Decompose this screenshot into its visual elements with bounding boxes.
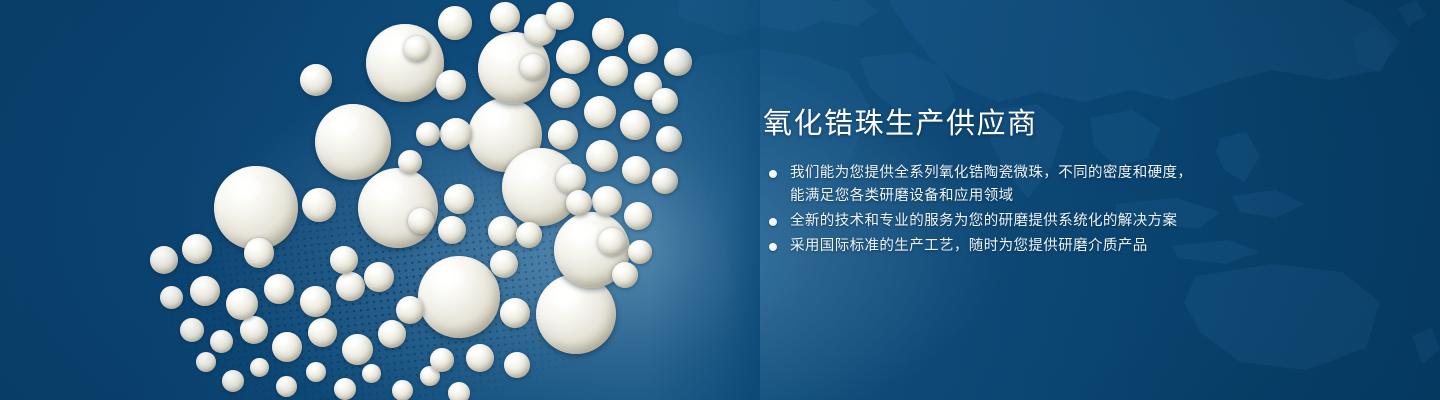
background-vignette [0,0,1440,400]
hero-banner: 氧化锆珠生产供应商 我们能为您提供全系列氧化锆陶瓷微珠，不同的密度和硬度， 能满… [0,0,1440,400]
